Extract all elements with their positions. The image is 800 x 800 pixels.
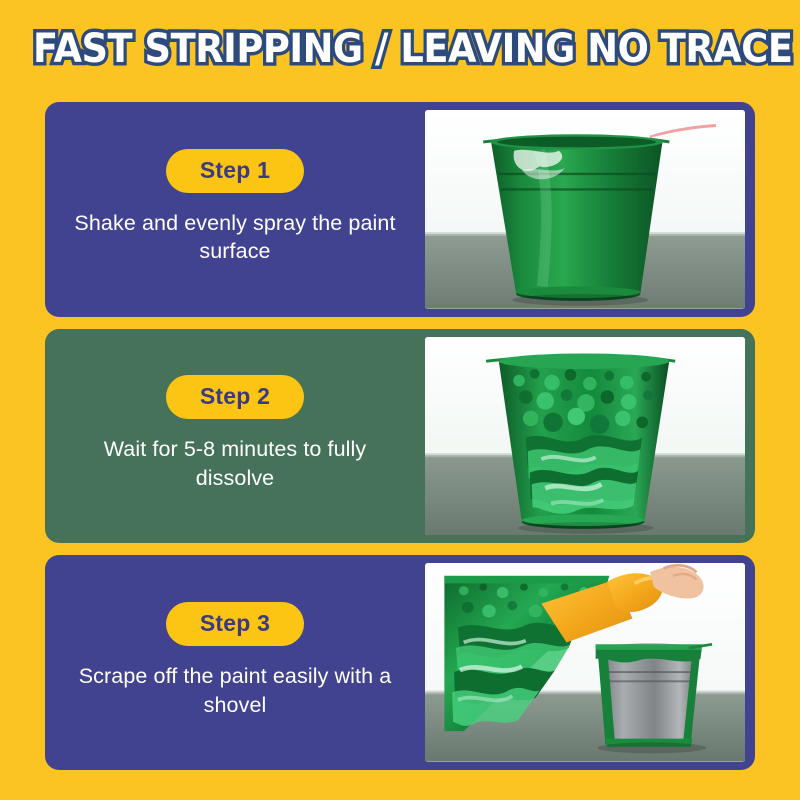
steps-list: Step 1 Shake and evenly spray the paint … — [45, 102, 755, 770]
green-bucket-sprayed-illustration — [425, 110, 745, 309]
green-bucket-blistered-illustration — [425, 337, 745, 536]
page-title: FAST STRIPPING / LEAVING NO TRACE — [33, 26, 792, 72]
page-title-bar: FAST STRIPPING / LEAVING NO TRACE — [0, 26, 800, 72]
step-3-badge: Step 3 — [166, 602, 304, 646]
step-3-description: Scrape off the paint easily with a shove… — [63, 662, 407, 719]
scraping-paint-sheet-illustration — [425, 563, 745, 762]
step-3-photo — [425, 563, 745, 762]
step-2-description: Wait for 5-8 minutes to fully dissolve — [63, 435, 407, 492]
step-card-3: Step 3 Scrape off the paint easily with … — [45, 555, 755, 770]
step-1-text-block: Step 1 Shake and evenly spray the paint … — [45, 102, 425, 317]
step-2-text-block: Step 2 Wait for 5-8 minutes to fully dis… — [45, 329, 425, 544]
step-1-photo — [425, 110, 745, 309]
step-2-photo — [425, 337, 745, 536]
step-2-badge: Step 2 — [166, 375, 304, 419]
step-card-1: Step 1 Shake and evenly spray the paint … — [45, 102, 755, 317]
step-1-badge: Step 1 — [166, 149, 304, 193]
step-3-text-block: Step 3 Scrape off the paint easily with … — [45, 555, 425, 770]
step-1-description: Shake and evenly spray the paint surface — [63, 209, 407, 266]
step-card-2: Step 2 Wait for 5-8 minutes to fully dis… — [45, 329, 755, 544]
